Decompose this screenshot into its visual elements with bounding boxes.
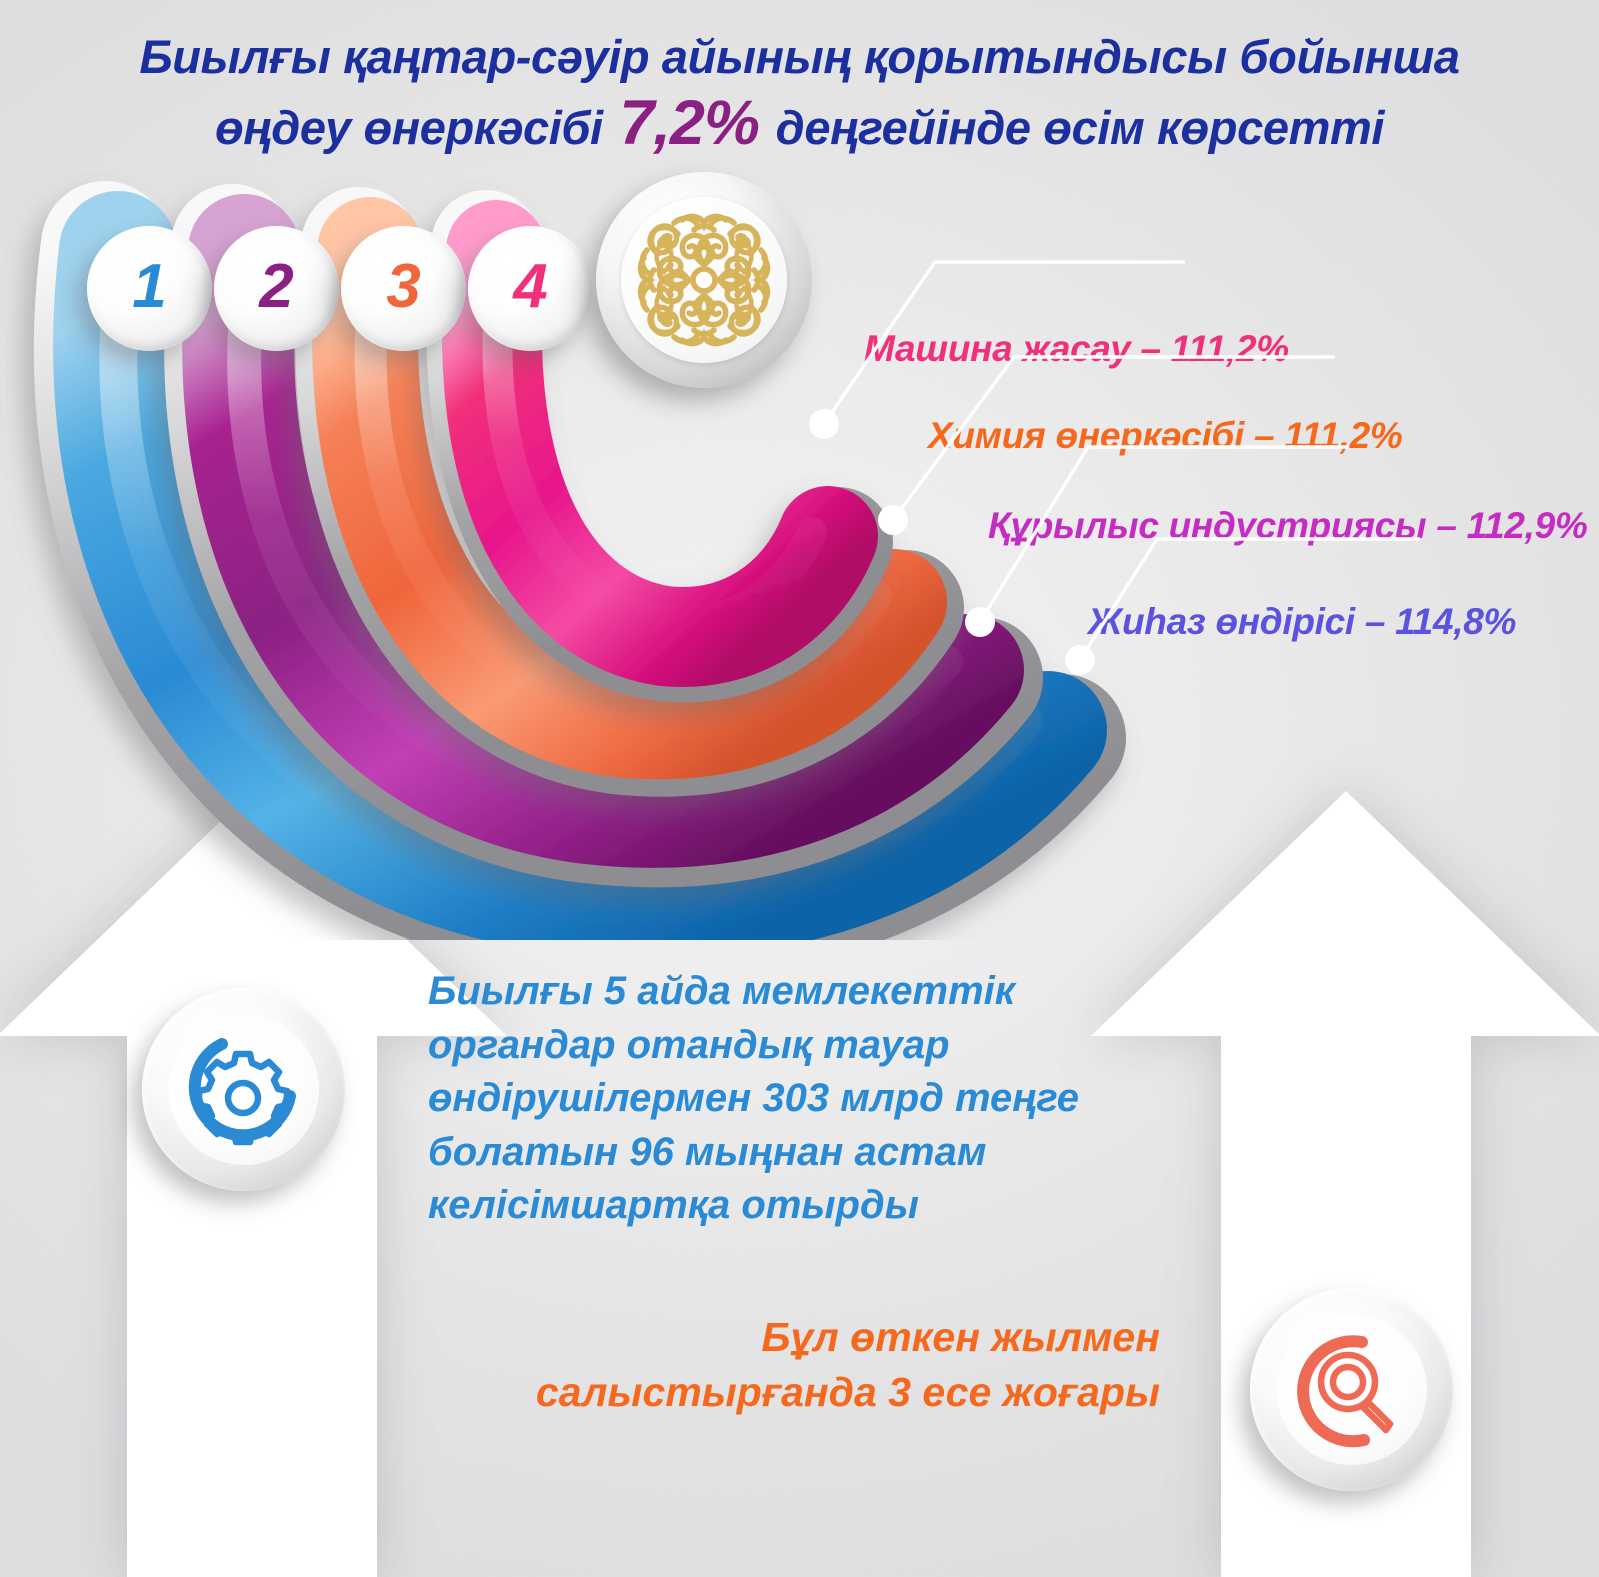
gear-badge bbox=[142, 988, 345, 1191]
magnifier-icon-inner bbox=[1277, 1315, 1427, 1465]
title-line-2-after: деңгейінде өсім көрсетті bbox=[776, 101, 1384, 154]
accent-statement: Бұл өткен жылмен салыстырғанда 3 есе жоғ… bbox=[420, 1310, 1160, 1420]
kazakh-ornament-icon bbox=[629, 205, 779, 355]
step-bubble-2[interactable]: 2 bbox=[214, 226, 339, 351]
step-bubble-1[interactable]: 1 bbox=[87, 226, 212, 351]
step-number-2: 2 bbox=[259, 256, 293, 318]
gear-icon bbox=[178, 1024, 310, 1156]
ornament-inner bbox=[621, 197, 787, 363]
magnifier-icon bbox=[1286, 1324, 1418, 1456]
title-percent-value: 7,2% bbox=[615, 88, 763, 158]
step-bubble-3[interactable]: 3 bbox=[341, 226, 466, 351]
page-title: Биылғы қаңтар-сәуір айының қорытындысы б… bbox=[0, 28, 1599, 162]
title-line-2: өңдеу өнеркәсібі 7,2% деңгейінде өсім кө… bbox=[0, 85, 1599, 162]
ornament-bubble bbox=[596, 172, 812, 388]
title-line-2-before: өңдеу өнеркәсібі bbox=[215, 101, 603, 154]
body-statement: Биылғы 5 айда мемлекеттік органдар отанд… bbox=[428, 965, 1128, 1233]
magnifier-badge bbox=[1250, 1288, 1453, 1491]
step-number-1: 1 bbox=[132, 256, 166, 318]
step-number-4: 4 bbox=[513, 256, 547, 318]
step-number-3: 3 bbox=[386, 256, 420, 318]
title-line-1: Биылғы қаңтар-сәуір айының қорытындысы б… bbox=[0, 28, 1599, 85]
step-bubble-4[interactable]: 4 bbox=[468, 226, 593, 351]
gear-icon-inner bbox=[169, 1015, 319, 1165]
